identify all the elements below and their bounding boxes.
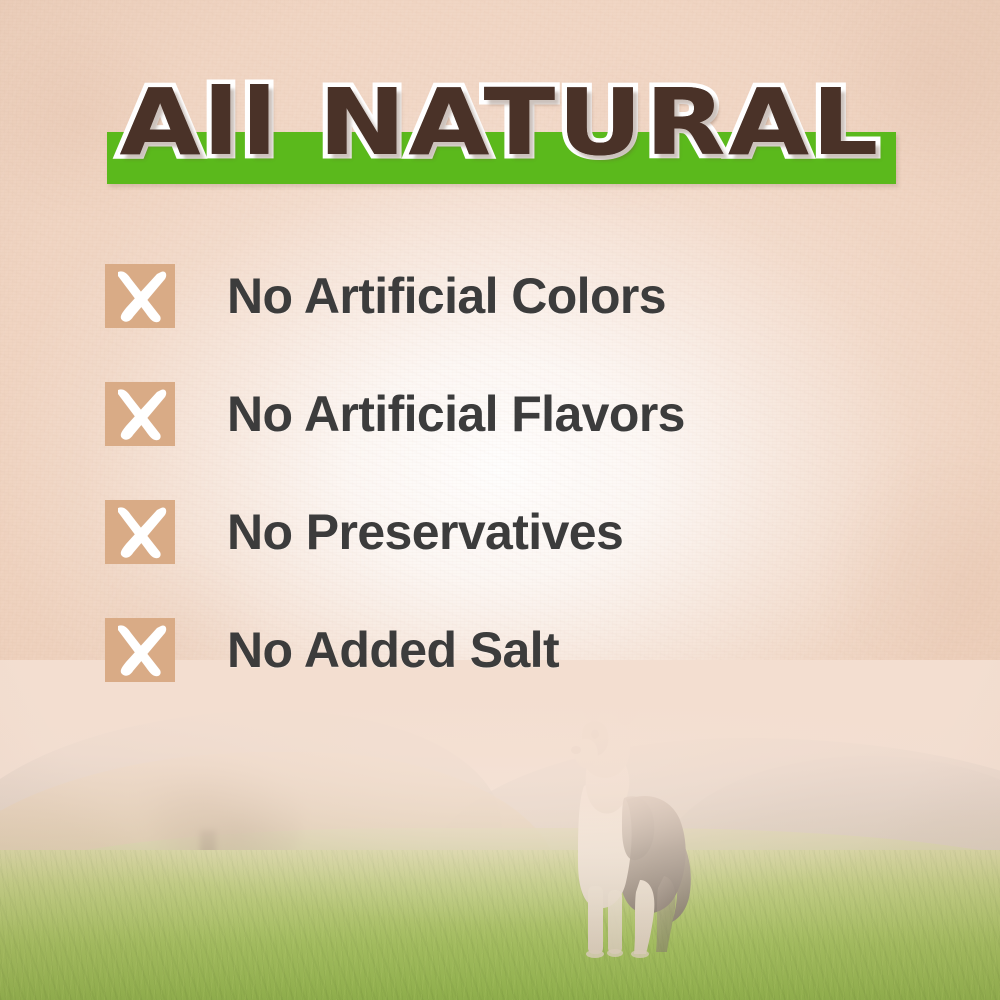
feature-row-no-artificial-colors: No Artificial Colors (105, 262, 925, 330)
feature-row-no-artificial-flavors: No Artificial Flavors (105, 380, 925, 448)
feature-row-no-preservatives: No Preservatives (105, 498, 925, 566)
photo-grass-texture (0, 850, 1000, 1000)
feature-row-no-added-salt: No Added Salt (105, 616, 925, 684)
feature-label: No Artificial Colors (227, 269, 666, 323)
feature-label: No Artificial Flavors (227, 387, 685, 441)
x-mark-icon (105, 382, 175, 446)
feature-label: No Preservatives (227, 505, 623, 559)
feature-panel-canvas: All NATURAL All NATURAL No Artificial Co… (0, 0, 1000, 1000)
x-mark-icon (105, 618, 175, 682)
landscape-photo (0, 660, 1000, 1000)
feature-label: No Added Salt (227, 623, 559, 677)
dog-icon (540, 690, 710, 958)
x-mark-icon (105, 500, 175, 564)
header-banner: All NATURAL All NATURAL (0, 70, 1000, 190)
page-title-outline: All NATURAL (0, 70, 1000, 176)
x-mark-icon (105, 264, 175, 328)
photo-inner (0, 660, 1000, 1000)
feature-list: No Artificial Colors No Artificial Flavo… (105, 262, 925, 684)
